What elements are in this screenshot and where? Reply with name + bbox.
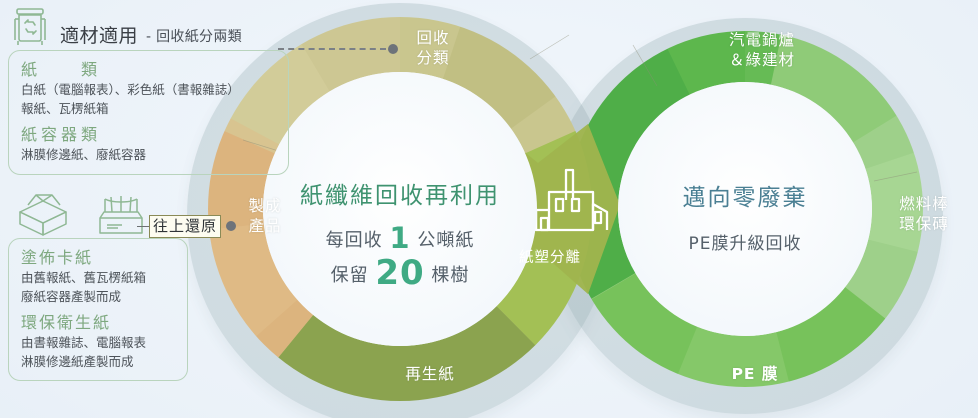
panel-2-card: 塗佈卡紙 由舊報紙、舊瓦楞紙箱 廢紙容器產製而成 環保衛生紙 由書報雜誌、電腦報… (8, 238, 188, 381)
group-paper-line-1: 白紙（電腦報表）、彩色紙（書報雜誌） (21, 81, 276, 100)
recycle-bin-icon (8, 6, 52, 48)
group-tissue-title: 環保衛生紙 (21, 311, 175, 334)
group-coated-line-2: 廢紙容器產製而成 (21, 288, 175, 307)
group-eco-tissue: 環保衛生紙 由書報雜誌、電腦報表 淋膜修邊紙產製而成 (21, 311, 175, 372)
restore-connector-dot (226, 221, 236, 231)
paper-categories-panel: 適材適用 - 回收紙分兩類 紙 類 白紙（電腦報表）、彩色紙（書報雜誌） 報紙、… (8, 4, 289, 175)
group-coated-title: 塗佈卡紙 (21, 246, 175, 269)
restore-annotation[interactable]: 往上還原 (137, 215, 221, 238)
panel-1-title: 適材適用 (60, 21, 138, 48)
connector-recycle-sort (278, 44, 398, 54)
left-inner-disc (263, 72, 537, 346)
group-coated-board: 塗佈卡紙 由舊報紙、舊瓦楞紙箱 廢紙容器產製而成 (21, 246, 175, 307)
group-paper-container: 紙容器類 淋膜修邊紙、廢紙容器 (21, 123, 276, 165)
group-tissue-line-1: 由書報雜誌、電腦報表 (21, 334, 175, 353)
restore-dash-line (137, 226, 149, 227)
restore-label[interactable]: 往上還原 (149, 215, 221, 238)
right-inner-disc (618, 82, 872, 336)
group-container-line-1: 淋膜修邊紙、廢紙容器 (21, 146, 276, 165)
open-box-icon (8, 192, 78, 236)
infographic-canvas: 紙纖維回收再利用 每回收 1 公噸紙 保留 20 棵樹 邁向零廢棄 PE膜升級回… (0, 0, 978, 418)
group-tissue-line-2: 淋膜修邊紙產製而成 (21, 353, 175, 372)
group-paper-line-2: 報紙、瓦楞紙箱 (21, 100, 276, 119)
panel-1-card: 紙 類 白紙（電腦報表）、彩色紙（書報雜誌） 報紙、瓦楞紙箱 紙容器類 淋膜修邊… (8, 50, 289, 175)
group-paper: 紙 類 白紙（電腦報表）、彩色紙（書報雜誌） 報紙、瓦楞紙箱 (21, 58, 276, 119)
connector-line (278, 48, 386, 50)
group-container-title: 紙容器類 (21, 123, 276, 146)
group-paper-title: 紙 類 (21, 58, 276, 81)
group-coated-line-1: 由舊報紙、舊瓦楞紙箱 (21, 269, 175, 288)
panel-1-header: 適材適用 - 回收紙分兩類 (8, 4, 289, 48)
connector-dot (388, 44, 398, 54)
panel-1-subtitle: - 回收紙分兩類 (146, 26, 242, 48)
